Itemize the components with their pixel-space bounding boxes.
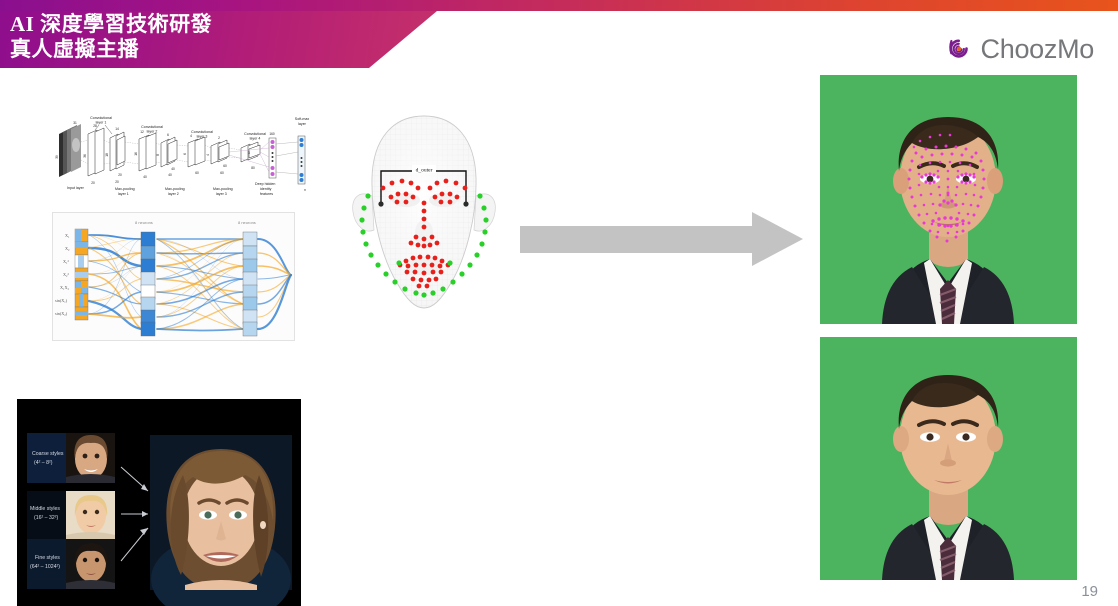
svg-text:8: 8 [156, 154, 160, 156]
neural-network-figure: 8 neurons 8 neurons [52, 212, 295, 341]
stylegan-row-2-label-line1: Fine styles [35, 555, 60, 561]
process-flow-arrow-icon [520, 208, 805, 271]
svg-text:39: 39 [55, 155, 59, 159]
portrait-with-landmarks [820, 75, 1077, 324]
stylegan-thumb-fine [66, 539, 115, 589]
svg-text:Convolutional: Convolutional [141, 125, 163, 129]
svg-text:40: 40 [168, 173, 172, 177]
stylegan-row-0-label-line1: Coarse styles [32, 451, 64, 457]
svg-text:Max-pooling: Max-pooling [165, 187, 185, 191]
svg-text:28: 28 [93, 124, 97, 128]
stylegan-row-0-label-line2: (4² – 8²) [34, 460, 53, 466]
svg-text:layer: layer [298, 122, 307, 126]
svg-text:Max-pooling: Max-pooling [213, 187, 233, 191]
top-accent-bar [0, 0, 1118, 11]
svg-text:Convolutional: Convolutional [90, 116, 112, 120]
svg-text:layer 1: layer 1 [96, 121, 107, 125]
stylegan-row-1-label-line1: Middle styles [30, 506, 60, 512]
svg-text:X₂²: X₂² [63, 272, 69, 277]
portrait-clean [820, 337, 1077, 580]
svg-text:X₁: X₁ [65, 233, 70, 238]
svg-text:Deep hidden: Deep hidden [255, 182, 275, 186]
svg-text:4: 4 [190, 134, 192, 138]
svg-text:features: features [260, 192, 273, 196]
stylegan-row-2-label-line2: (64² – 1024²) [30, 564, 60, 570]
svg-text:80: 80 [251, 166, 255, 170]
svg-text:identity: identity [260, 187, 272, 191]
stylegan-thumb-middle [66, 491, 115, 541]
svg-text:4: 4 [206, 154, 210, 156]
stylegan-style-mixing-figure: Coarse styles (4² – 8²) Middle styles (1… [17, 399, 301, 606]
svg-text:36: 36 [83, 154, 87, 158]
svg-text:layer 3: layer 3 [197, 135, 208, 139]
svg-text:6: 6 [183, 153, 187, 155]
svg-text:31: 31 [73, 121, 77, 125]
svg-text:8 neurons: 8 neurons [135, 220, 153, 225]
svg-text:sin(X₁): sin(X₁) [55, 298, 68, 303]
svg-text:Convolutional: Convolutional [191, 130, 213, 134]
svg-text:160: 160 [269, 132, 275, 136]
svg-text:6: 6 [167, 133, 169, 137]
brand-name: ChoozMo [981, 36, 1094, 63]
svg-text:layer 2: layer 2 [168, 192, 179, 196]
brand-logo: ChoozMo [944, 34, 1094, 64]
svg-text:3: 3 [248, 151, 250, 155]
svg-text:X₁²: X₁² [63, 259, 69, 264]
svg-text:60: 60 [195, 171, 199, 175]
svg-text:X₁X₂: X₁X₂ [60, 285, 70, 290]
svg-text:n: n [304, 188, 306, 192]
svg-text:14: 14 [115, 127, 119, 131]
svg-text:layer 3: layer 3 [216, 192, 227, 196]
svg-text:60: 60 [220, 171, 224, 175]
svg-text:Soft-max: Soft-max [295, 117, 310, 121]
cnn-architecture-figure: 31 39 Input layer Convolutional layer 1 … [55, 112, 320, 197]
svg-text:20: 20 [118, 173, 122, 177]
svg-text:layer 2: layer 2 [147, 130, 158, 134]
face-mesh-figure: d_outer [333, 108, 516, 330]
svg-text:2: 2 [218, 136, 220, 140]
nn-hidden-layer-2 [243, 232, 257, 336]
svg-text:40: 40 [171, 167, 175, 171]
svg-text:8 neurons: 8 neurons [238, 220, 256, 225]
svg-text:18: 18 [105, 153, 109, 157]
d-outer-label: d_outer [416, 168, 433, 174]
svg-text:20: 20 [91, 181, 95, 185]
svg-text:layer 4: layer 4 [250, 137, 261, 141]
stylegan-row-1-label-line2: (16² – 32²) [34, 515, 58, 521]
page-number: 19 [1081, 584, 1098, 599]
svg-text:40: 40 [143, 175, 147, 179]
page-title: AI 深度學習技術研發 真人虛擬主播 [10, 12, 360, 62]
svg-text:Max-pooling: Max-pooling [115, 187, 135, 191]
svg-text:Convolutional: Convolutional [244, 132, 266, 136]
stylegan-thumb-coarse [66, 433, 115, 483]
stylegan-result-portrait [150, 435, 292, 606]
nn-input-nodes [75, 229, 88, 320]
svg-text:12: 12 [140, 130, 144, 134]
softmax-layer [298, 136, 305, 184]
svg-text:X₂: X₂ [65, 246, 70, 251]
svg-text:60: 60 [223, 164, 227, 168]
choozmo-spiral-icon [944, 34, 974, 64]
svg-text:20: 20 [115, 180, 119, 184]
svg-text:sin(X₂): sin(X₂) [55, 311, 68, 316]
deepid-feature-vector [269, 138, 276, 178]
svg-text:16: 16 [134, 152, 138, 156]
nn-hidden-layer-1 [141, 232, 155, 336]
svg-text:layer 1: layer 1 [118, 192, 129, 196]
svg-text:Input layer: Input layer [67, 186, 85, 190]
